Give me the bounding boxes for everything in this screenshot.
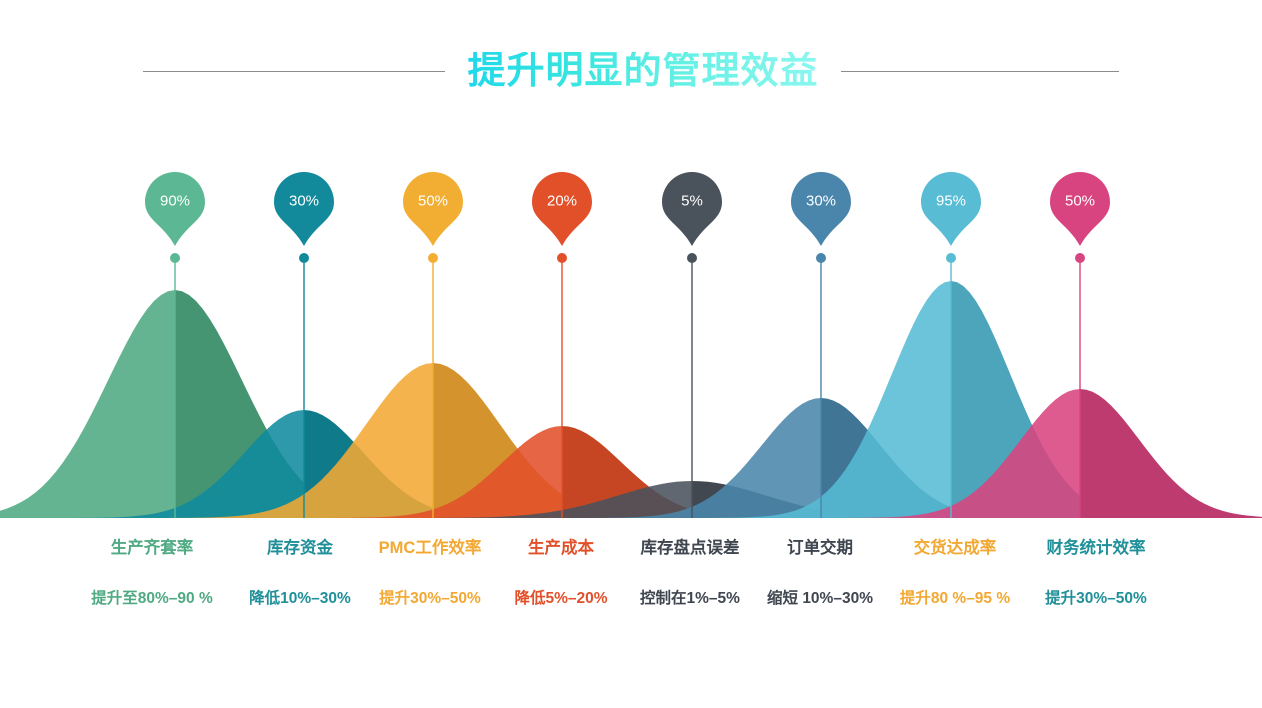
balloon-pin[interactable] [791, 172, 851, 246]
legend-column[interactable]: 财务统计效率提升30%–50% [1045, 540, 1147, 606]
balloon-pin[interactable] [274, 172, 334, 246]
legend-column[interactable]: 库存盘点误差控制在1%–5% [640, 540, 740, 606]
legend-metric-value: 提升80 %–95 % [900, 591, 1010, 607]
balloon-pin[interactable] [145, 172, 205, 246]
legend-metric-value: 降低10%–30% [249, 591, 351, 607]
balloon-markers-group [0, 150, 1262, 530]
balloon-pin[interactable] [1050, 172, 1110, 246]
balloon-pin[interactable] [662, 172, 722, 246]
title-rule-right [841, 71, 1119, 72]
title-rule-left [143, 71, 445, 72]
balloon-pin[interactable] [532, 172, 592, 246]
legend-metric-name: PMC工作效率 [379, 540, 482, 557]
legend-column[interactable]: 生产齐套率提升至80%–90 % [91, 540, 212, 606]
legend-column[interactable]: 交货达成率提升80 %–95 % [900, 540, 1010, 606]
legend-column[interactable]: 库存资金降低10%–30% [249, 540, 351, 606]
page-title: 提升明显的管理效益 [467, 52, 818, 90]
legend-metric-value: 提升至80%–90 % [91, 591, 212, 607]
legend-row: 生产齐套率提升至80%–90 %库存资金降低10%–30%PMC工作效率提升30… [0, 540, 1262, 650]
legend-metric-name: 生产齐套率 [91, 540, 212, 557]
legend-metric-value: 提升30%–50% [379, 591, 482, 607]
legend-column[interactable]: 订单交期缩短 10%–30% [767, 540, 873, 606]
title-row: 提升明显的管理效益 [0, 42, 1262, 100]
legend-metric-name: 库存资金 [249, 540, 351, 557]
legend-metric-name: 订单交期 [767, 540, 873, 557]
legend-metric-value: 降低5%–20% [514, 591, 607, 607]
chart-area: 90%30%50%20%5%30%95%50% [0, 150, 1262, 530]
balloon-pin[interactable] [403, 172, 463, 246]
legend-column[interactable]: 生产成本降低5%–20% [514, 540, 607, 606]
balloon-pin[interactable] [921, 172, 981, 246]
legend-metric-name: 财务统计效率 [1045, 540, 1147, 557]
legend-metric-name: 库存盘点误差 [640, 540, 740, 557]
legend-metric-value: 提升30%–50% [1045, 591, 1147, 607]
slide-canvas: 提升明显的管理效益 90%30%50%20%5%30%95%50% 生产齐套率提… [0, 0, 1262, 708]
legend-metric-value: 缩短 10%–30% [767, 591, 873, 607]
legend-metric-name: 生产成本 [514, 540, 607, 557]
legend-column[interactable]: PMC工作效率提升30%–50% [379, 540, 482, 606]
legend-metric-value: 控制在1%–5% [640, 591, 740, 607]
legend-metric-name: 交货达成率 [900, 540, 1010, 557]
